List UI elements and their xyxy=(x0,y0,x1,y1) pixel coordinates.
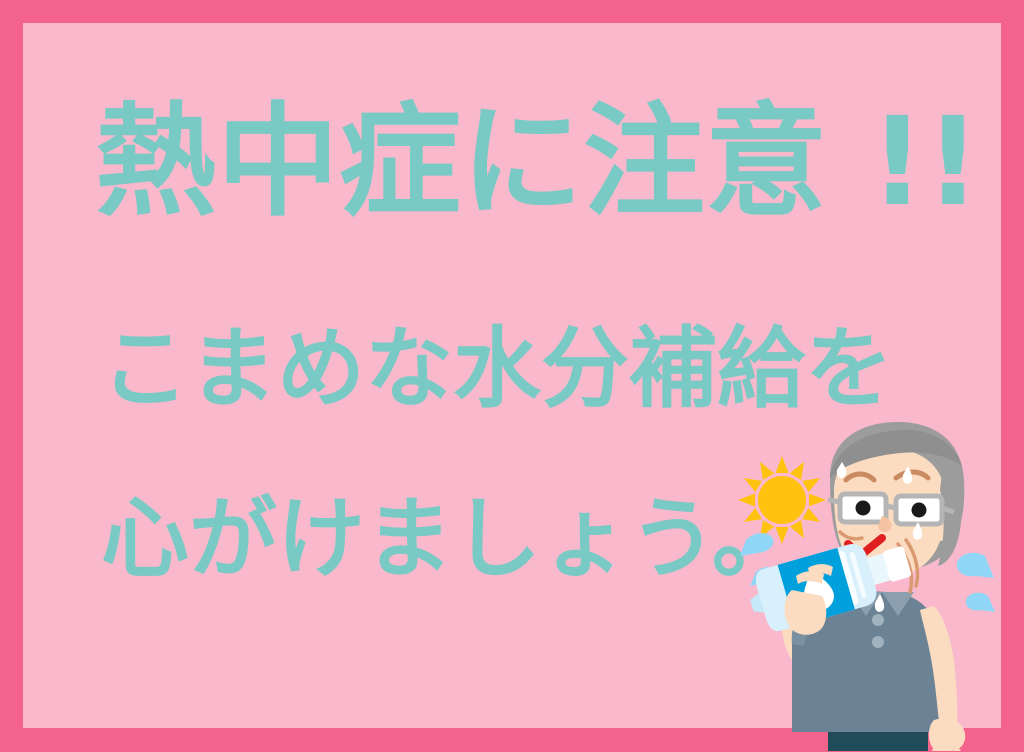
sun-core xyxy=(758,476,806,524)
illustration-elderly-man-drinking-water xyxy=(730,420,1024,751)
poster-root: 熱中症に注意 !! こまめな水分補給を 心がけましょう。 xyxy=(0,0,1024,752)
shirt-button-1 xyxy=(872,614,884,626)
headline-line-2: こまめな水分補給を xyxy=(101,325,893,413)
sun-icon xyxy=(738,456,826,544)
headline-line-1: 熱中症に注意 !! xyxy=(95,101,981,223)
poster-inner-panel: 熱中症に注意 !! こまめな水分補給を 心がけましょう。 xyxy=(23,23,1001,728)
character-right-hand xyxy=(929,718,965,751)
shirt-button-2 xyxy=(872,636,884,648)
sweat-splash-right xyxy=(957,553,995,612)
headline-line-3: 心がけましょう。 xyxy=(101,495,800,583)
